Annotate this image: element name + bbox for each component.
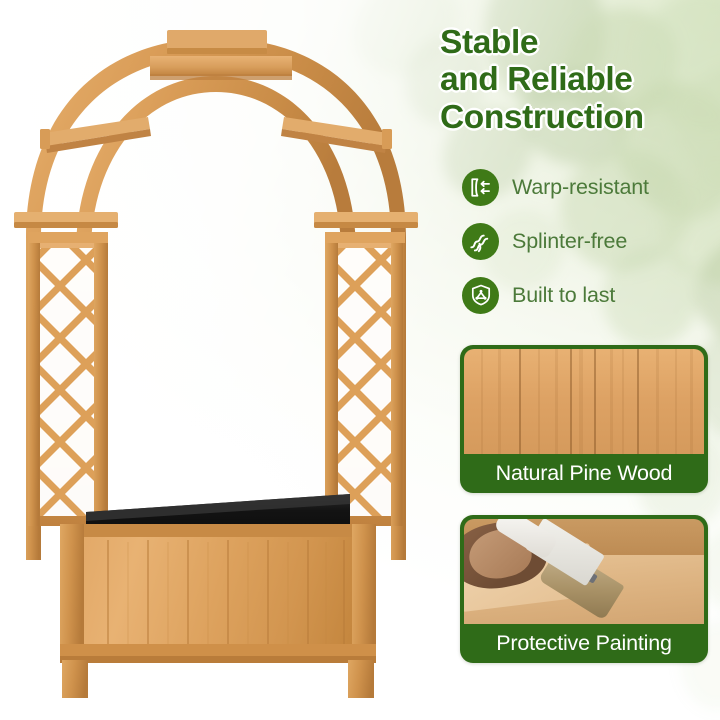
warp-resistant-board-icon [462, 169, 499, 206]
card-label: Protective Painting [460, 624, 708, 663]
headline-line-2: and Reliable [440, 61, 712, 98]
wood-planks-texture [464, 349, 704, 454]
card-label: Natural Pine Wood [460, 454, 708, 493]
marketing-copy-panel: Stable and Reliable Construction Warp-re… [432, 0, 720, 720]
arbor-illustration [0, 0, 446, 720]
feature-label: Warp-resistant [512, 175, 649, 200]
card-protective-painting: Protective Painting [460, 515, 708, 663]
marketing-image-canvas: Stable and Reliable Construction Warp-re… [0, 0, 720, 720]
left-cap-rail [14, 212, 118, 228]
right-cap-rail [314, 212, 418, 228]
splinter-free-wave-icon [462, 223, 499, 260]
feature-item-warp-resistant: Warp-resistant [462, 160, 720, 214]
feature-item-built-to-last: Built to last [462, 268, 720, 322]
feature-item-splinter-free: Splinter-free [462, 214, 720, 268]
hand-painting-wood-photo [464, 519, 704, 624]
headline-line-3: Construction [440, 99, 712, 136]
card-natural-pine-wood: Natural Pine Wood [460, 345, 708, 493]
feature-list: Warp-resistant Splinter-free [462, 160, 720, 322]
inner-arch [76, 76, 356, 520]
headline-line-1: Stable [440, 24, 712, 61]
feature-label: Built to last [512, 283, 615, 308]
planter-box [60, 524, 376, 663]
headline: Stable and Reliable Construction [440, 24, 712, 136]
shield-durability-icon [462, 277, 499, 314]
feature-label: Splinter-free [512, 229, 627, 254]
legs [62, 660, 374, 698]
product-image-arbor-planter [0, 0, 446, 720]
